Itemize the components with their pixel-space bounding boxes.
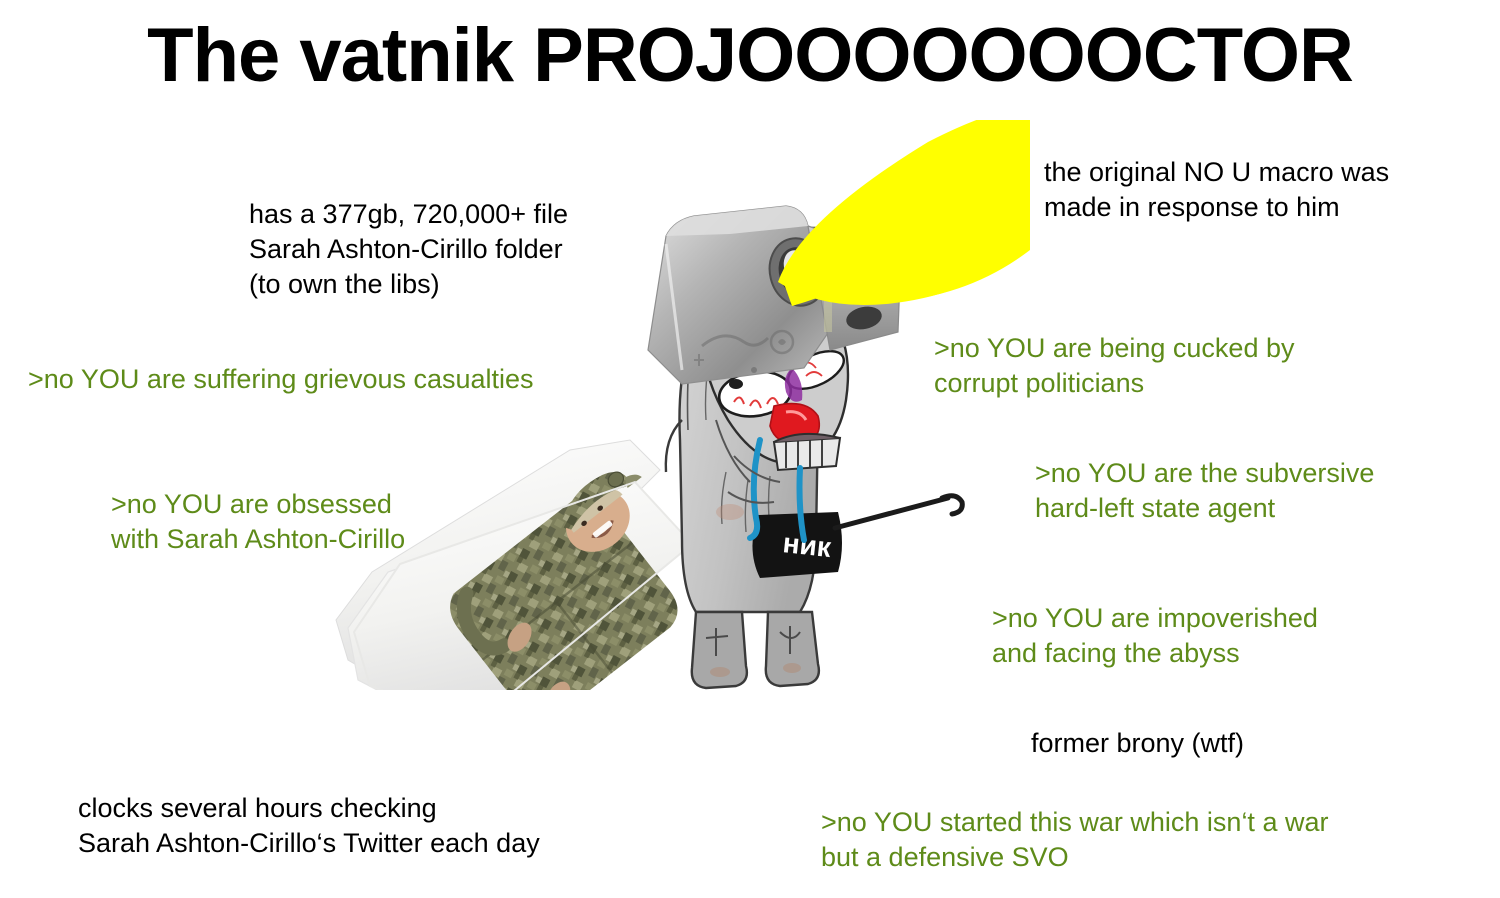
outstretched-arm: [835, 496, 962, 528]
caption-greentext-svo: >no YOU started this war which isn‘t a w…: [821, 805, 1328, 875]
band-text: ник: [781, 527, 833, 563]
caption-greentext-impoverished: >no YOU are impoverished and facing the …: [992, 601, 1318, 671]
caption-greentext-cucked: >no YOU are being cucked by corrupt poli…: [934, 331, 1294, 401]
page-title: The vatnik PROJOOOOOOOCTOR: [0, 12, 1500, 99]
caption-greentext-casualties: >no YOU are suffering grievous casualtie…: [28, 362, 534, 397]
black-arm-band: ник: [752, 512, 842, 578]
teeth: [774, 434, 840, 470]
caption-clocks-hours: clocks several hours checking Sarah Asht…: [78, 791, 540, 861]
caption-greentext-obsessed: >no YOU are obsessed with Sarah Ashton-C…: [111, 487, 405, 557]
caption-former-brony: former brony (wtf): [1031, 726, 1244, 761]
caption-no-u-macro: the original NO U macro was made in resp…: [1044, 155, 1389, 225]
boots: [692, 612, 819, 688]
meme-canvas: The vatnik PROJOOOOOOOCTOR: [0, 0, 1500, 898]
yellow-light-beam: [778, 120, 1030, 306]
caption-sarah-folder: has a 377gb, 720,000+ file Sarah Ashton-…: [249, 197, 568, 302]
body-pillow-dakimakura: [336, 440, 726, 690]
caption-greentext-subversive: >no YOU are the subversive hard-left sta…: [1035, 456, 1374, 526]
